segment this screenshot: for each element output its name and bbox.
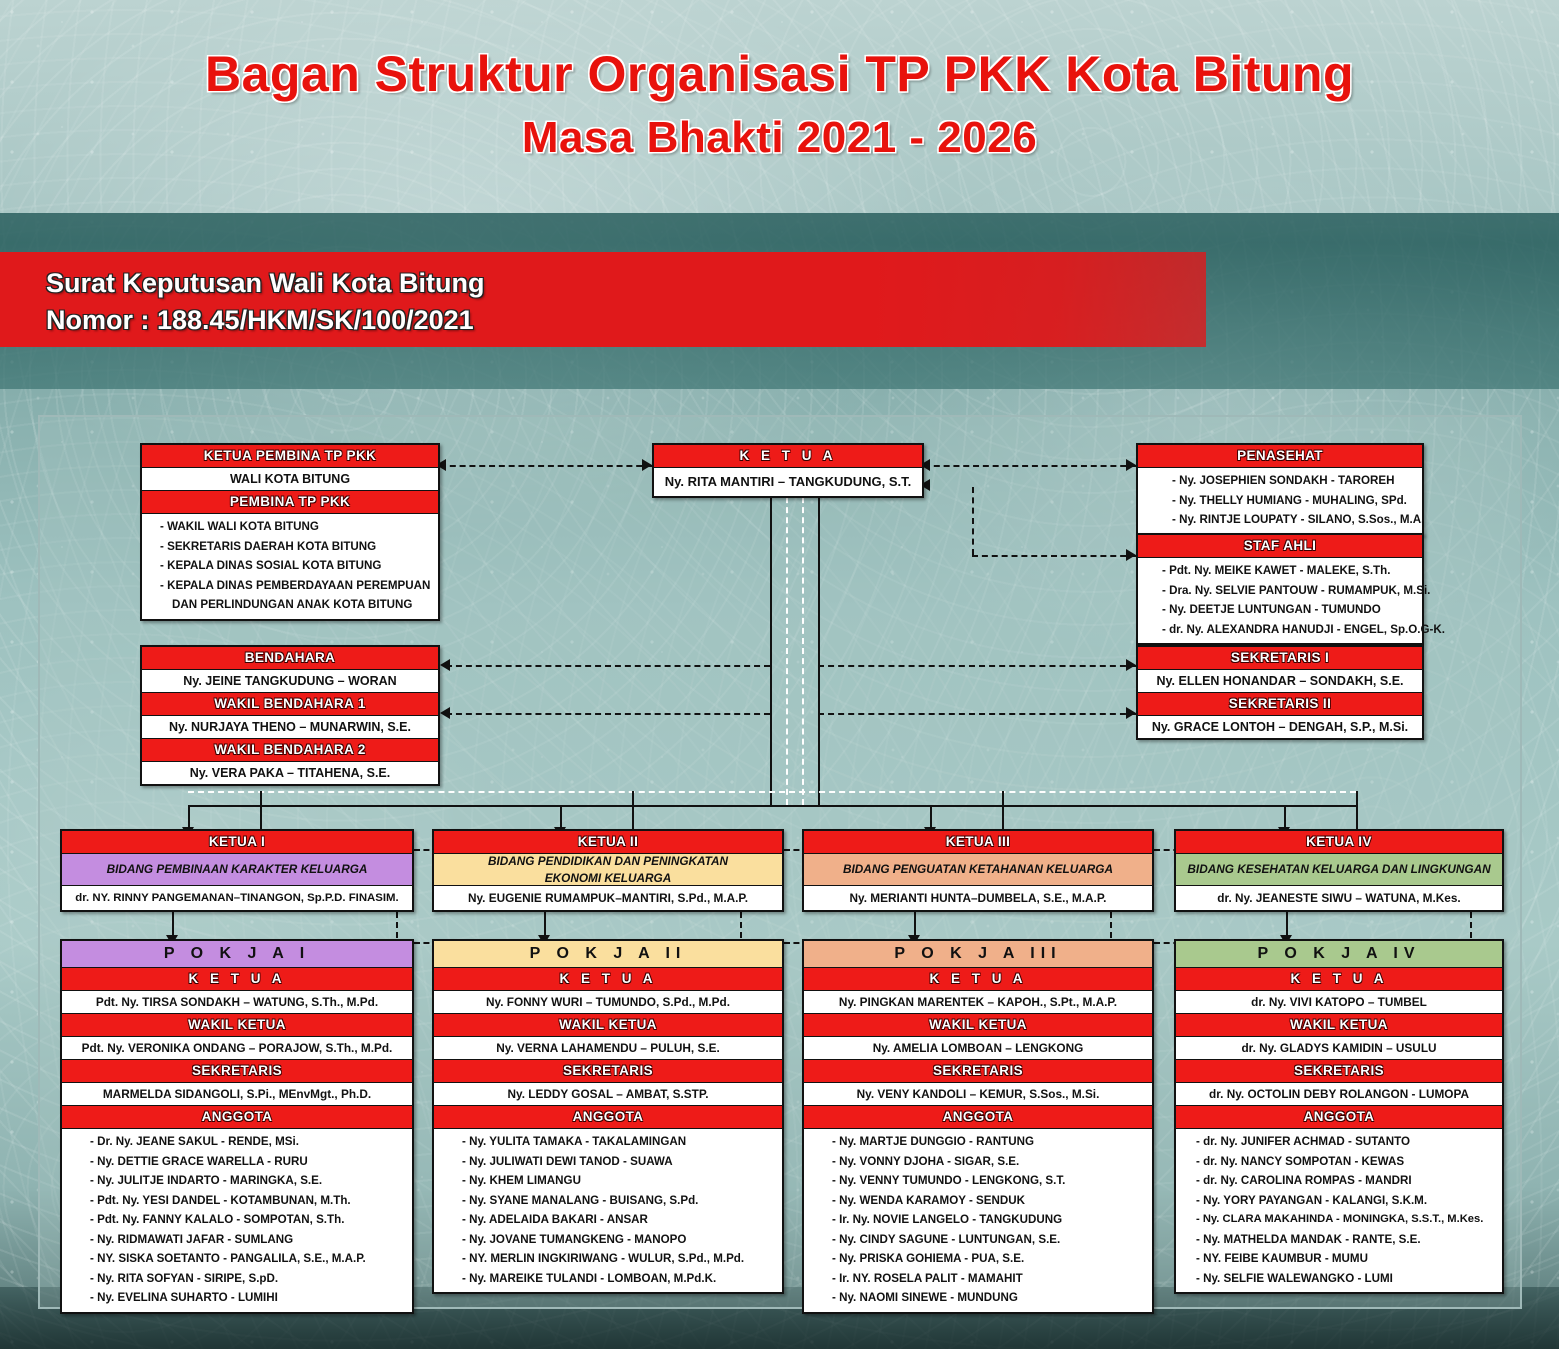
list-item: - Ny. MAREIKE TULANDI - LOMBOAN, M.Pd.K. bbox=[462, 1269, 776, 1289]
pokja-3-sekretaris-name: Ny. VENY KANDOLI – KEMUR, S.Sos., M.Si. bbox=[804, 1083, 1152, 1105]
arrow-left-bendahara bbox=[440, 659, 450, 671]
box-staf-ahli: STAF AHLI - Pdt. Ny. MEIKE KAWET - MALEK… bbox=[1136, 533, 1424, 645]
pokja-4-wakil-label: WAKIL KETUA bbox=[1176, 1013, 1502, 1037]
drop-ketua1-b bbox=[260, 791, 262, 831]
wakil-bendahara-2-name: Ny. VERA PAKA – TITAHENA, S.E. bbox=[142, 762, 438, 784]
pokja-4-wakil-name: dr. Ny. GLADYS KAMIDIN – USULU bbox=[1176, 1037, 1502, 1059]
connector-wakilbendahara-h bbox=[446, 713, 770, 715]
list-item: - Ny. NAOMI SINEWE - MUNDUNG bbox=[832, 1288, 1146, 1308]
pokja-1-anggota-label: ANGGOTA bbox=[62, 1105, 412, 1129]
box-ketua: K E T U A Ny. RITA MANTIRI – TANGKUDUNG,… bbox=[652, 443, 924, 498]
wakil-bendahara-1-name: Ny. NURJAYA THENO – MUNARWIN, S.E. bbox=[142, 716, 438, 738]
box-penasehat: PENASEHAT - Ny. JOSEPHIEN SONDAKH - TARO… bbox=[1136, 443, 1424, 536]
box-pokja-1: P O K J A I K E T U A Pdt. Ny. TIRSA SON… bbox=[60, 939, 414, 1314]
pokja-4-sekretaris-label: SEKRETARIS bbox=[1176, 1059, 1502, 1083]
list-item: - dr. Ny. CAROLINA ROMPAS - MANDRI bbox=[1196, 1171, 1496, 1191]
connector-bendahara-h bbox=[446, 665, 770, 667]
pokja-3-title: P O K J A III bbox=[804, 941, 1152, 968]
staf-ahli-member-list: - Pdt. Ny. MEIKE KAWET - MALEKE, S.Th. -… bbox=[1138, 558, 1422, 643]
ketua-pembina-header: KETUA PEMBINA TP PKK bbox=[142, 445, 438, 468]
penasehat-member-list: - Ny. JOSEPHIEN SONDAKH - TAROREH - Ny. … bbox=[1138, 468, 1422, 534]
list-item: - Ny. YORY PAYANGAN - KALANGI, S.K.M. bbox=[1196, 1191, 1496, 1211]
box-ketua-2: KETUA II BIDANG PENDIDIKAN DAN PENINGKAT… bbox=[432, 829, 784, 912]
ketua-4-header: KETUA IV bbox=[1176, 831, 1502, 854]
connector-sekretaris1-h bbox=[818, 665, 1136, 667]
ketua-3-name: Ny. MERIANTI HUNTA–DUMBELA, S.E., M.A.P. bbox=[804, 886, 1152, 910]
arrow-right-sekretaris1 bbox=[1126, 659, 1136, 671]
connector-sekretaris2-h bbox=[818, 713, 1136, 715]
box-bendahara-group: BENDAHARA Ny. JEINE TANGKUDUNG – WORAN W… bbox=[140, 645, 440, 786]
list-item: - Ny. SYANE MANALANG - BUISANG, S.Pd. bbox=[462, 1191, 776, 1211]
bidang-distribution-bar bbox=[188, 805, 1356, 807]
list-item: - Ny. JULIWATI DEWI TANOD - SUAWA bbox=[462, 1152, 776, 1172]
arrow-right-ketua-left bbox=[642, 459, 652, 471]
drop-ketua4-b bbox=[1356, 791, 1358, 831]
list-item: - Ny. CLARA MAKAHINDA - MONINGKA, S.S.T.… bbox=[1196, 1210, 1496, 1230]
list-item: - dr. Ny. ALEXANDRA HANUDJI - ENGEL, Sp.… bbox=[1162, 620, 1416, 640]
list-item: - Ny. JOVANE TUMANGKENG - MANOPO bbox=[462, 1230, 776, 1250]
pokja-1-wakil-label: WAKIL KETUA bbox=[62, 1013, 412, 1037]
pokja-2-anggota-list: - Ny. YULITA TAMAKA - TAKALAMINGAN - Ny.… bbox=[434, 1129, 782, 1292]
list-item: - Ny. THELLY HUMIANG - MUHALING, SPd. bbox=[1172, 491, 1416, 511]
box-pokja-4: P O K J A IV K E T U A dr. Ny. VIVI KATO… bbox=[1174, 939, 1504, 1294]
list-item: - Ny. DETTIE GRACE WARELLA - RURU bbox=[90, 1152, 406, 1172]
penasehat-header: PENASEHAT bbox=[1138, 445, 1422, 468]
list-item: - dr. Ny. NANCY SOMPOTAN - KEWAS bbox=[1196, 1152, 1496, 1172]
pokja-1-title: P O K J A I bbox=[62, 941, 412, 968]
pokja-1-anggota-list: - Dr. Ny. JEANE SAKUL - RENDE, MSi. - Ny… bbox=[62, 1129, 412, 1312]
pokja-2-anggota-label: ANGGOTA bbox=[434, 1105, 782, 1129]
list-item: - Ir. NY. ROSELA PALIT - MAMAHIT bbox=[832, 1269, 1146, 1289]
pokja-1-sekretaris-label: SEKRETARIS bbox=[62, 1059, 412, 1083]
list-item: - Ny. DEETJE LUNTUNGAN - TUMUNDO bbox=[1162, 600, 1416, 620]
list-item: - Pdt. Ny. FANNY KALALO - SOMPOTAN, S.Th… bbox=[90, 1210, 406, 1230]
page-title: Bagan Struktur Organisasi TP PKK Kota Bi… bbox=[0, 44, 1559, 104]
list-item: - Ny. PRISKA GOHIEMA - PUA, S.E. bbox=[832, 1249, 1146, 1269]
sekretaris-2-name: Ny. GRACE LONTOH – DENGAH, S.P., M.Si. bbox=[1138, 716, 1422, 738]
list-item: - NY. MERLIN INGKIRIWANG - WULUR, S.Pd.,… bbox=[462, 1249, 776, 1269]
pokja-3-ketua-name: Ny. PINGKAN MARENTEK – KAPOH., S.Pt., M.… bbox=[804, 991, 1152, 1013]
ketua-3-header: KETUA III bbox=[804, 831, 1152, 854]
spine-wdash-1 bbox=[786, 487, 788, 805]
list-item: - Ny. JULITJE INDARTO - MARINGKA, S.E. bbox=[90, 1171, 406, 1191]
staf-ahli-header: STAF AHLI bbox=[1138, 535, 1422, 558]
ketua-1-header: KETUA I bbox=[62, 831, 412, 854]
wakil-bendahara-1-header: WAKIL BENDAHARA 1 bbox=[142, 692, 438, 716]
connector-ketua-staf-h bbox=[972, 555, 1136, 557]
pokja-4-anggota-label: ANGGOTA bbox=[1176, 1105, 1502, 1129]
sekretaris-1-header: SEKRETARIS I bbox=[1138, 647, 1422, 670]
drop-ketua3-b bbox=[1002, 791, 1004, 831]
pokja-2-wakil-label: WAKIL KETUA bbox=[434, 1013, 782, 1037]
pokja-4-ketua-name: dr. Ny. VIVI KATOPO – TUMBEL bbox=[1176, 991, 1502, 1013]
ketua-header: K E T U A bbox=[654, 445, 922, 468]
connector-ketua-to-pembina bbox=[440, 465, 652, 467]
pokja-1-ketua-name: Pdt. Ny. TIRSA SONDAKH – WATUNG, S.Th., … bbox=[62, 991, 412, 1013]
list-item: - dr. Ny. JUNIFER ACHMAD - SUTANTO bbox=[1196, 1132, 1496, 1152]
spine-left-solid bbox=[770, 487, 772, 805]
decree-number: Nomor : 188.45/HKM/SK/100/2021 bbox=[46, 302, 1206, 339]
spine-wdash-2 bbox=[802, 487, 804, 805]
ketua-4-field: BIDANG KESEHATAN KELUARGA DAN LINGKUNGAN bbox=[1176, 854, 1502, 886]
pokja-3-wakil-label: WAKIL KETUA bbox=[804, 1013, 1152, 1037]
list-item: - Ny. VENNY TUMUNDO - LENGKONG, S.T. bbox=[832, 1171, 1146, 1191]
list-item: - NY. SISKA SOETANTO - PANGALILA, S.E., … bbox=[90, 1249, 406, 1269]
list-item: - Pdt. Ny. YESI DANDEL - KOTAMBUNAN, M.T… bbox=[90, 1191, 406, 1211]
poster-title-group: Bagan Struktur Organisasi TP PKK Kota Bi… bbox=[0, 44, 1559, 166]
arrow-right-penasehat bbox=[1126, 459, 1136, 471]
list-item: - Ny. RITA SOFYAN - SIRIPE, S.pD. bbox=[90, 1269, 406, 1289]
pokja-3-wakil-name: Ny. AMELIA LOMBOAN – LENGKONG bbox=[804, 1037, 1152, 1059]
box-ketua-3: KETUA III BIDANG PENGUATAN KETAHANAN KEL… bbox=[802, 829, 1154, 912]
pokja-2-ketua-name: Ny. FONNY WURI – TUMUNDO, S.Pd., M.Pd. bbox=[434, 991, 782, 1013]
list-item: - Pdt. Ny. MEIKE KAWET - MALEKE, S.Th. bbox=[1162, 561, 1416, 581]
list-item: DAN PERLINDUNGAN ANAK KOTA BITUNG bbox=[160, 595, 432, 615]
list-item: - Ny. MARTJE DUNGGIO - RANTUNG bbox=[832, 1132, 1146, 1152]
list-item: - Ny. SELFIE WALEWANGKO - LUMI bbox=[1196, 1269, 1496, 1289]
pembina-header: PEMBINA TP PKK bbox=[142, 490, 438, 514]
pokja-2-sekretaris-name: Ny. LEDDY GOSAL – AMBAT, S.STP. bbox=[434, 1083, 782, 1105]
ketua-1-name: dr. NY. RINNY PANGEMANAN–TINANGON, Sp.P.… bbox=[62, 886, 412, 910]
spine-right-solid bbox=[818, 487, 820, 805]
list-item: - Ny. ADELAIDA BAKARI - ANSAR bbox=[462, 1210, 776, 1230]
pokja-1-sekretaris-name: MARMELDA SIDANGOLI, S.Pi., MEnvMgt., Ph.… bbox=[62, 1083, 412, 1105]
pokja-3-anggota-list: - Ny. MARTJE DUNGGIO - RANTUNG - Ny. VON… bbox=[804, 1129, 1152, 1312]
list-item: - Ny. CINDY SAGUNE - LUNTUNGAN, S.E. bbox=[832, 1230, 1146, 1250]
list-item: - Dr. Ny. JEANE SAKUL - RENDE, MSi. bbox=[90, 1132, 406, 1152]
wakil-bendahara-2-header: WAKIL BENDAHARA 2 bbox=[142, 738, 438, 762]
ketua-3-field: BIDANG PENGUATAN KETAHANAN KELUARGA bbox=[804, 854, 1152, 886]
box-ketua-4: KETUA IV BIDANG KESEHATAN KELUARGA DAN L… bbox=[1174, 829, 1504, 912]
box-sekretaris-group: SEKRETARIS I Ny. ELLEN HONANDAR – SONDAK… bbox=[1136, 645, 1424, 740]
pokja-2-title: P O K J A II bbox=[434, 941, 782, 968]
ketua-name: Ny. RITA MANTIRI – TANGKUDUNG, S.T. bbox=[654, 468, 922, 496]
decree-banner: Surat Keputusan Wali Kota Bitung Nomor :… bbox=[0, 252, 1206, 347]
box-pokja-2: P O K J A II K E T U A Ny. FONNY WURI – … bbox=[432, 939, 784, 1294]
sekretaris-1-name: Ny. ELLEN HONANDAR – SONDAKH, S.E. bbox=[1138, 670, 1422, 692]
list-item: - Ny. RIDMAWATI JAFAR - SUMLANG bbox=[90, 1230, 406, 1250]
list-item: - WAKIL WALI KOTA BITUNG bbox=[160, 517, 432, 537]
ketua-2-field: BIDANG PENDIDIKAN DAN PENINGKATAN EKONOM… bbox=[434, 854, 782, 886]
box-pokja-3: P O K J A III K E T U A Ny. PINGKAN MARE… bbox=[802, 939, 1154, 1314]
connector-ketua-to-penasehat bbox=[924, 465, 1136, 467]
arrow-right-staf-ahli bbox=[1126, 549, 1136, 561]
decree-title: Surat Keputusan Wali Kota Bitung bbox=[46, 265, 1206, 302]
pokja-4-title: P O K J A IV bbox=[1176, 941, 1502, 968]
page-subtitle: Masa Bhakti 2021 - 2026 bbox=[0, 110, 1559, 166]
bendahara-header: BENDAHARA bbox=[142, 647, 438, 670]
pembina-member-list: - WAKIL WALI KOTA BITUNG - SEKRETARIS DA… bbox=[142, 514, 438, 619]
pokja-4-anggota-list: - dr. Ny. JUNIFER ACHMAD - SUTANTO - dr.… bbox=[1176, 1129, 1502, 1292]
pokja-2-ketua-label: K E T U A bbox=[434, 968, 782, 991]
list-item: - Ny. YULITA TAMAKA - TAKALAMINGAN bbox=[462, 1132, 776, 1152]
list-item: - Ny. MATHELDA MANDAK - RANTE, S.E. bbox=[1196, 1230, 1496, 1250]
pokja-2-wakil-name: Ny. VERNA LAHAMENDU – PULUH, S.E. bbox=[434, 1037, 782, 1059]
list-item: - Dra. Ny. SELVIE PANTOUW - RUMAMPUK, M.… bbox=[1162, 581, 1416, 601]
arrow-right-sekretaris2 bbox=[1126, 707, 1136, 719]
list-item: - Ny. WENDA KARAMOY - SENDUK bbox=[832, 1191, 1146, 1211]
organization-chart-poster: Bagan Struktur Organisasi TP PKK Kota Bi… bbox=[0, 0, 1559, 1349]
pokja-1-ketua-label: K E T U A bbox=[62, 968, 412, 991]
list-item: - Ny. EVELINA SUHARTO - LUMIHI bbox=[90, 1288, 406, 1308]
pokja-1-wakil-name: Pdt. Ny. VERONIKA ONDANG – PORAJOW, S.Th… bbox=[62, 1037, 412, 1059]
drop-ketua2-b bbox=[632, 791, 634, 831]
list-item: - KEPALA DINAS PEMBERDAYAAN PEREMPUAN bbox=[160, 576, 432, 596]
list-item: - Ny. KHEM LIMANGU bbox=[462, 1171, 776, 1191]
bidang-distribution-bar-dashed bbox=[188, 791, 1356, 793]
list-item: - SEKRETARIS DAERAH KOTA BITUNG bbox=[160, 537, 432, 557]
box-ketua-1: KETUA I BIDANG PEMBINAAN KARAKTER KELUAR… bbox=[60, 829, 414, 912]
list-item: - Ir. Ny. NOVIE LANGELO - TANGKUDUNG bbox=[832, 1210, 1146, 1230]
pokja-3-anggota-label: ANGGOTA bbox=[804, 1105, 1152, 1129]
list-item: - Ny. JOSEPHIEN SONDAKH - TAROREH bbox=[1172, 471, 1416, 491]
arrow-left-wakil-bendahara bbox=[440, 707, 450, 719]
pokja-4-ketua-label: K E T U A bbox=[1176, 968, 1502, 991]
connector-ketua-staf-v bbox=[972, 487, 974, 555]
list-item: - NY. FEIBE KAUMBUR - MUMU bbox=[1196, 1249, 1496, 1269]
list-item: - Ny. RINTJE LOUPATY - SILANO, S.Sos., M… bbox=[1172, 510, 1416, 530]
ketua-4-name: dr. Ny. JEANESTE SIWU – WATUNA, M.Kes. bbox=[1176, 886, 1502, 910]
pokja-2-sekretaris-label: SEKRETARIS bbox=[434, 1059, 782, 1083]
pokja-3-sekretaris-label: SEKRETARIS bbox=[804, 1059, 1152, 1083]
list-item: - KEPALA DINAS SOSIAL KOTA BITUNG bbox=[160, 556, 432, 576]
sekretaris-2-header: SEKRETARIS II bbox=[1138, 692, 1422, 716]
chart-panel: KETUA PEMBINA TP PKK WALI KOTA BITUNG PE… bbox=[38, 415, 1522, 1309]
ketua-pembina-name: WALI KOTA BITUNG bbox=[142, 468, 438, 490]
ketua-1-field: BIDANG PEMBINAAN KARAKTER KELUARGA bbox=[62, 854, 412, 886]
ketua-2-name: Ny. EUGENIE RUMAMPUK–MANTIRI, S.Pd., M.A… bbox=[434, 886, 782, 910]
ketua-2-header: KETUA II bbox=[434, 831, 782, 854]
box-ketua-pembina: KETUA PEMBINA TP PKK WALI KOTA BITUNG PE… bbox=[140, 443, 440, 621]
list-item: - Ny. VONNY DJOHA - SIGAR, S.E. bbox=[832, 1152, 1146, 1172]
pokja-4-sekretaris-name: dr. Ny. OCTOLIN DEBY ROLANGON - LUMOPA bbox=[1176, 1083, 1502, 1105]
pokja-3-ketua-label: K E T U A bbox=[804, 968, 1152, 991]
bendahara-name: Ny. JEINE TANGKUDUNG – WORAN bbox=[142, 670, 438, 692]
